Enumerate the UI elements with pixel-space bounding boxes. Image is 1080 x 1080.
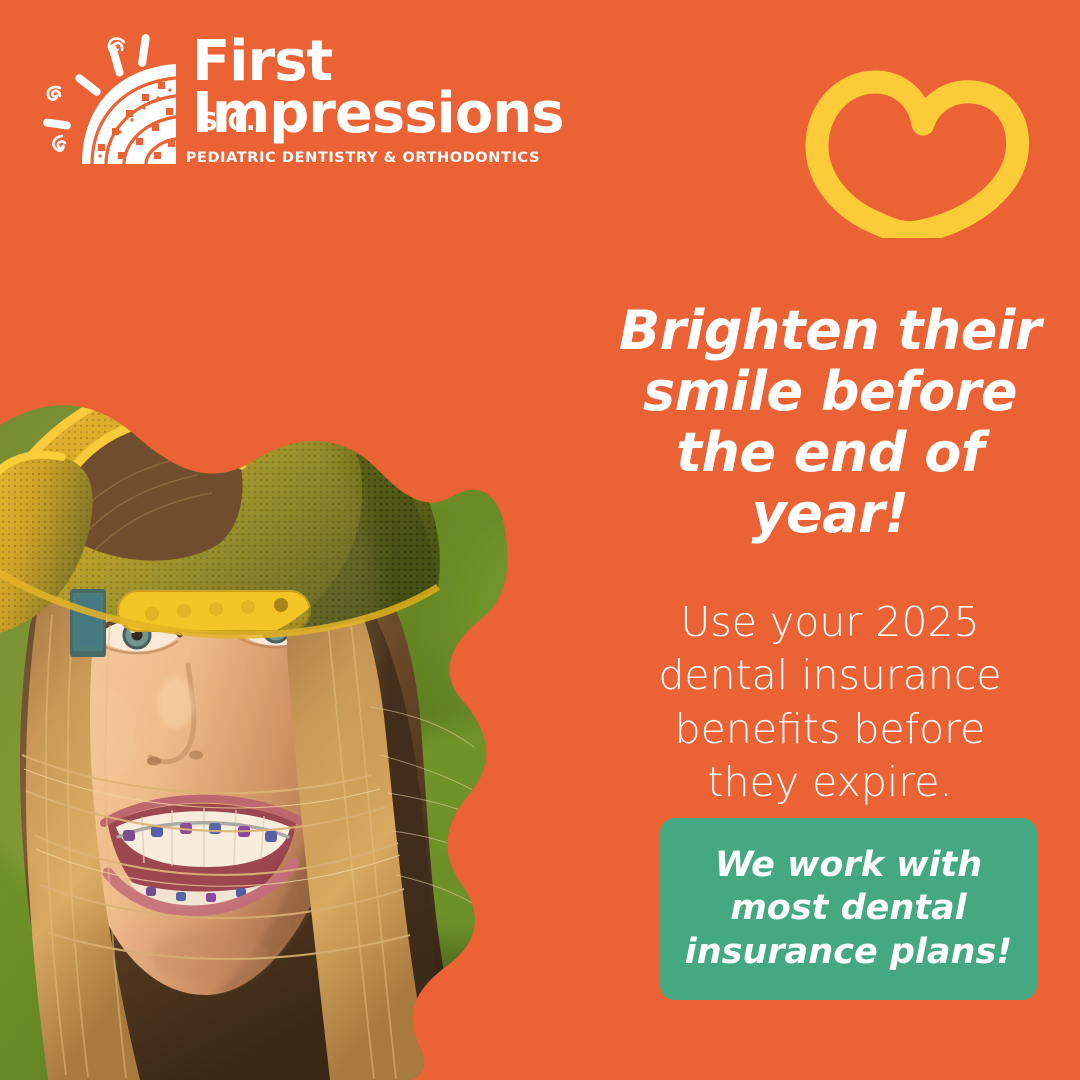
insurance-callout-text: We work with most dental insurance plans…	[660, 844, 1037, 973]
brand-tagline: PEDIATRIC DENTISTRY & ORTHODONTICS	[186, 150, 540, 166]
brand-wordmark: First ImpressionsS.C.	[192, 36, 552, 166]
promo-canvas: First ImpressionsS.C. PEDIATRIC DENTISTR…	[0, 0, 1080, 1080]
brand-suffix-sc: S.C.	[200, 110, 255, 133]
message-column: Brighten their smile before the end of y…	[600, 300, 1060, 809]
hero-photo-illustration	[0, 195, 680, 1080]
brand-name-line-2: ImpressionsS.C.	[192, 88, 552, 140]
brand-logo[interactable]: First ImpressionsS.C. PEDIATRIC DENTISTR…	[40, 28, 540, 178]
insurance-callout-badge: We work with most dental insurance plans…	[660, 818, 1037, 1000]
headline-text: Brighten their smile before the end of y…	[600, 300, 1060, 544]
heart-outline-icon	[805, 48, 1030, 238]
sunburst-teeth-arc-icon	[40, 32, 188, 168]
hero-photo	[0, 195, 680, 1080]
subcopy-text: Use your 2025 dental insurance benefits …	[600, 596, 1060, 809]
